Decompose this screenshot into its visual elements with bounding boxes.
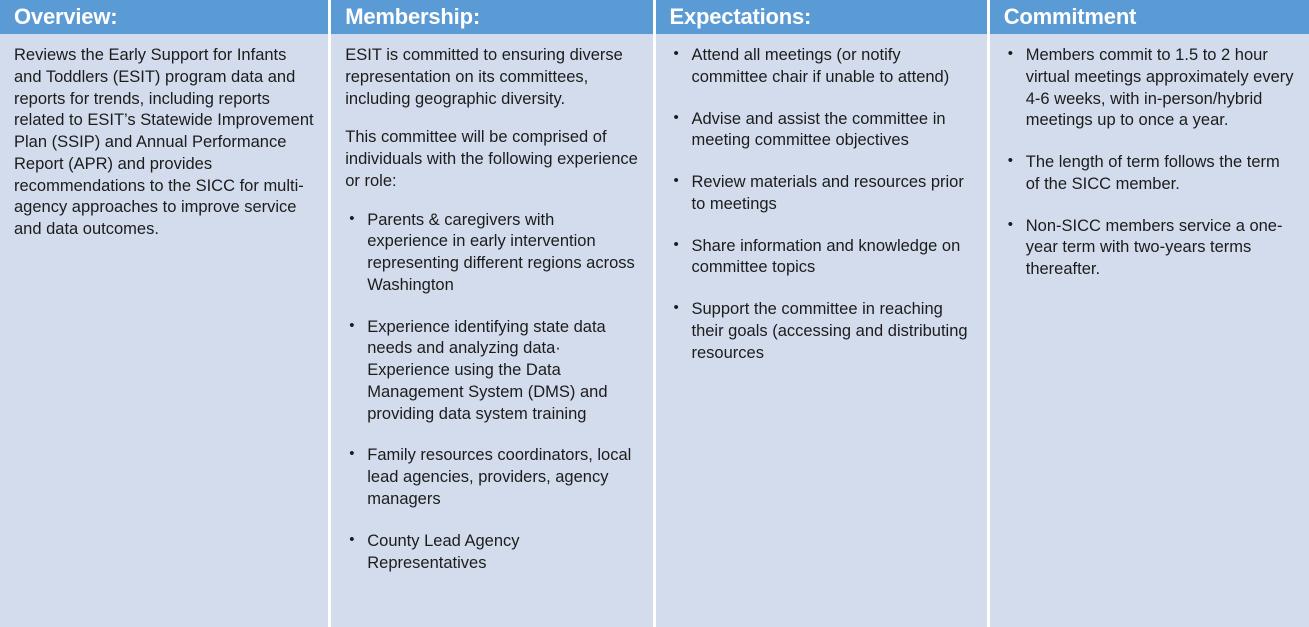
list-item: Non-SICC members service a one-year term…: [1004, 216, 1295, 281]
column-header-commitment: Commitment: [990, 0, 1309, 34]
list-item: Support the committee in reaching their …: [670, 299, 973, 364]
commitment-bullet-list: Members commit to 1.5 to 2 hour virtual …: [1004, 45, 1295, 281]
list-item: Experience identifying state data needs …: [345, 317, 638, 426]
column-body-expectations: Attend all meetings (or notify committee…: [656, 34, 987, 627]
list-item: County Lead Agency Representatives: [345, 531, 638, 575]
list-item: Attend all meetings (or notify committee…: [670, 45, 973, 89]
column-header-membership: Membership:: [331, 0, 652, 34]
list-item: Members commit to 1.5 to 2 hour virtual …: [1004, 45, 1295, 132]
overview-paragraph: Reviews the Early Support for Infants an…: [14, 45, 314, 241]
column-header-overview: Overview:: [0, 0, 328, 34]
column-header-expectations: Expectations:: [656, 0, 987, 34]
list-item: Share information and knowledge on commi…: [670, 236, 973, 280]
list-item: Review materials and resources prior to …: [670, 172, 973, 216]
list-item: Advise and assist the committee in meeti…: [670, 109, 973, 153]
column-body-membership: ESIT is committed to ensuring diverse re…: [331, 34, 652, 627]
membership-paragraph-1: ESIT is committed to ensuring diverse re…: [345, 45, 638, 110]
table-header-row: Overview: Membership: Expectations: Comm…: [0, 0, 1309, 34]
column-body-overview: Reviews the Early Support for Infants an…: [0, 34, 328, 627]
membership-bullet-list: Parents & caregivers with experience in …: [345, 210, 638, 575]
table-body-row: Reviews the Early Support for Infants an…: [0, 34, 1309, 627]
column-body-commitment: Members commit to 1.5 to 2 hour virtual …: [990, 34, 1309, 627]
list-item: The length of term follows the term of t…: [1004, 152, 1295, 196]
expectations-bullet-list: Attend all meetings (or notify committee…: [670, 45, 973, 364]
list-item: Family resources coordinators, local lea…: [345, 445, 638, 510]
committee-info-table: Overview: Membership: Expectations: Comm…: [0, 0, 1309, 627]
membership-paragraph-2: This committee will be comprised of indi…: [345, 127, 638, 192]
list-item: Parents & caregivers with experience in …: [345, 210, 638, 297]
